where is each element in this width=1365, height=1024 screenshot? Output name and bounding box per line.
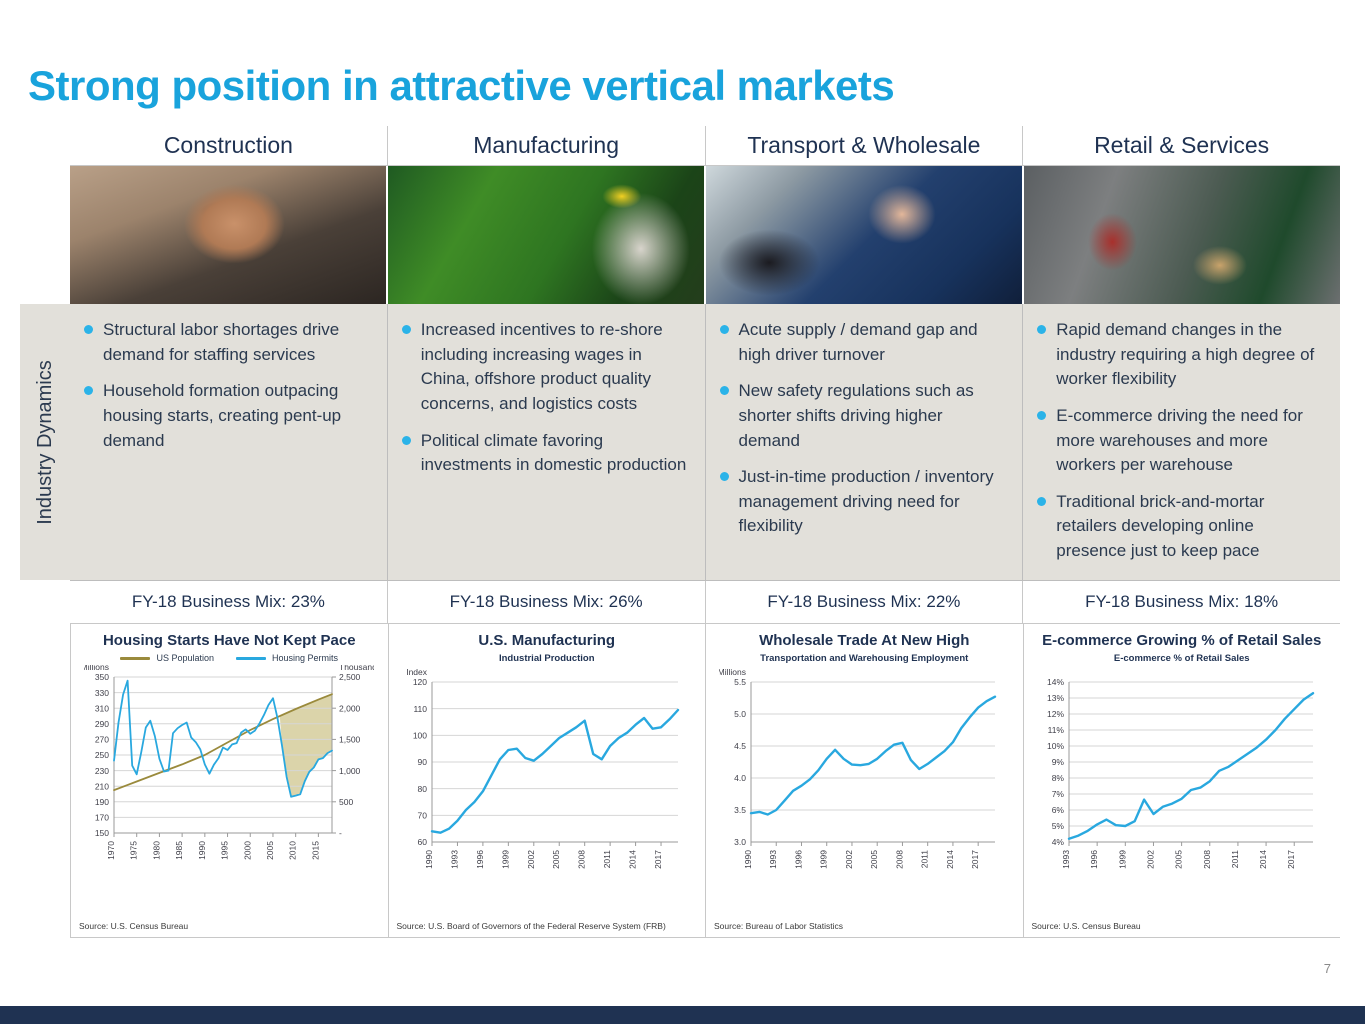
svg-text:2002: 2002 [1145, 850, 1155, 869]
bullet-dot-icon [84, 325, 93, 334]
svg-text:1999: 1999 [819, 850, 829, 869]
svg-text:1999: 1999 [500, 850, 510, 869]
business-mix-construction: FY-18 Business Mix: 23% [70, 581, 388, 623]
bullet-dot-icon [402, 436, 411, 445]
legend-swatch-icon [236, 657, 266, 660]
svg-text:1,000: 1,000 [339, 766, 361, 776]
legend-label: Housing Permits [272, 653, 338, 663]
dynamics-cell-transport: Acute supply / demand gap and high drive… [706, 304, 1024, 580]
bullet-dot-icon [1037, 325, 1046, 334]
svg-text:1995: 1995 [220, 841, 230, 860]
svg-text:2000: 2000 [243, 841, 253, 860]
svg-text:1990: 1990 [424, 850, 434, 869]
bullet-text: Just-in-time production / inventory mana… [739, 465, 1009, 539]
list-item: E-commerce driving the need for more war… [1037, 404, 1326, 478]
svg-text:1993: 1993 [768, 850, 778, 869]
svg-text:4.5: 4.5 [734, 741, 746, 751]
svg-text:120: 120 [413, 677, 427, 687]
svg-text:2011: 2011 [602, 850, 612, 869]
column-header-manufacturing: Manufacturing [388, 126, 706, 165]
svg-text:2017: 2017 [653, 850, 663, 869]
svg-text:1985: 1985 [174, 841, 184, 860]
svg-text:1980: 1980 [152, 841, 162, 860]
chart-subtitle-2: Industrial Production [395, 653, 700, 664]
svg-text:3.5: 3.5 [734, 805, 746, 815]
bullet-dot-icon [1037, 411, 1046, 420]
chart-svg-4: 14%13%12%11%10%9%8%7%6%5%4%1993199619992… [1037, 666, 1327, 884]
svg-text:330: 330 [95, 688, 109, 698]
svg-text:Thousands: Thousands [339, 665, 374, 672]
dynamics-cell-manufacturing: Increased incentives to re-shore includi… [388, 304, 706, 580]
column-headers-row: Construction Manufacturing Transport & W… [70, 126, 1340, 166]
svg-text:2008: 2008 [576, 850, 586, 869]
svg-text:2005: 2005 [551, 850, 561, 869]
svg-text:1990: 1990 [743, 850, 753, 869]
bullet-dot-icon [84, 386, 93, 395]
list-item: Structural labor shortages drive demand … [84, 318, 373, 367]
photo-row [70, 166, 1340, 304]
svg-text:2005: 2005 [265, 841, 275, 860]
chart-cell-transport: Wholesale Trade At New High Transportati… [706, 624, 1024, 938]
chart-title-1: Housing Starts Have Not Kept Pace [77, 632, 382, 649]
chart-source-4: Source: U.S. Census Bureau [1032, 921, 1141, 931]
industry-dynamics-band: Industry Dynamics Structural labor short… [70, 304, 1340, 580]
svg-text:210: 210 [95, 781, 109, 791]
svg-text:1990: 1990 [197, 841, 207, 860]
bullet-text: Acute supply / demand gap and high drive… [739, 318, 1009, 367]
list-item: Political climate favoring investments i… [402, 429, 691, 478]
svg-text:2002: 2002 [844, 850, 854, 869]
svg-text:3.0: 3.0 [734, 837, 746, 847]
chart-cell-construction: Housing Starts Have Not Kept Pace US Pop… [70, 624, 389, 938]
legend-label: US Population [156, 653, 214, 663]
business-mix-manufacturing: FY-18 Business Mix: 26% [388, 581, 706, 623]
legend-item-us-population: US Population [120, 653, 214, 663]
svg-text:5%: 5% [1051, 821, 1064, 831]
svg-text:Millions: Millions [84, 665, 109, 672]
page-number: 7 [1324, 961, 1331, 976]
footer-bar [0, 1006, 1365, 1024]
svg-text:2005: 2005 [869, 850, 879, 869]
svg-text:2,500: 2,500 [339, 672, 361, 682]
svg-text:2011: 2011 [1230, 850, 1240, 869]
svg-text:190: 190 [95, 797, 109, 807]
column-header-construction: Construction [70, 126, 388, 165]
list-item: New safety regulations such as shorter s… [720, 379, 1009, 453]
svg-text:5.0: 5.0 [734, 709, 746, 719]
svg-text:250: 250 [95, 750, 109, 760]
svg-text:-: - [339, 828, 342, 838]
warehouse-workers-photo [1024, 166, 1340, 304]
chart-source-1: Source: U.S. Census Bureau [79, 921, 188, 931]
chart-subtitle-3: Transportation and Warehousing Employmen… [712, 653, 1017, 664]
list-item: Just-in-time production / inventory mana… [720, 465, 1009, 539]
svg-text:270: 270 [95, 735, 109, 745]
svg-text:2002: 2002 [526, 850, 536, 869]
svg-text:1993: 1993 [449, 850, 459, 869]
svg-text:9%: 9% [1051, 757, 1064, 767]
chart-cell-retail: E-commerce Growing % of Retail Sales E-c… [1024, 624, 1341, 938]
bullet-dot-icon [402, 325, 411, 334]
svg-text:13%: 13% [1047, 693, 1064, 703]
svg-text:100: 100 [413, 731, 427, 741]
svg-text:90: 90 [417, 757, 427, 767]
svg-text:2014: 2014 [1258, 850, 1268, 869]
svg-text:230: 230 [95, 766, 109, 776]
svg-text:80: 80 [417, 784, 427, 794]
list-item: Acute supply / demand gap and high drive… [720, 318, 1009, 367]
svg-text:290: 290 [95, 719, 109, 729]
svg-text:2014: 2014 [627, 850, 637, 869]
svg-text:8%: 8% [1051, 773, 1064, 783]
chart-title-3: Wholesale Trade At New High [712, 632, 1017, 649]
svg-text:1996: 1996 [475, 850, 485, 869]
chart-svg-1: 350330310290270250230210190170150Million… [84, 665, 374, 875]
bullet-text: Rapid demand changes in the industry req… [1056, 318, 1326, 392]
svg-text:4%: 4% [1051, 837, 1064, 847]
chart-svg-2: 12011010090807060Index199019931996199920… [402, 666, 692, 884]
svg-text:Millions: Millions [719, 667, 746, 677]
legend-swatch-icon [120, 657, 150, 660]
bullet-text: Traditional brick-and-mortar retailers d… [1056, 490, 1326, 564]
svg-text:2010: 2010 [288, 841, 298, 860]
list-item: Increased incentives to re-shore includi… [402, 318, 691, 417]
svg-text:2008: 2008 [1202, 850, 1212, 869]
business-mix-row: FY-18 Business Mix: 23% FY-18 Business M… [70, 580, 1340, 624]
svg-text:Index: Index [406, 667, 428, 677]
dynamics-cell-retail: Rapid demand changes in the industry req… [1023, 304, 1340, 580]
svg-text:310: 310 [95, 703, 109, 713]
column-header-retail: Retail & Services [1023, 126, 1340, 165]
svg-text:14%: 14% [1047, 677, 1064, 687]
svg-text:1975: 1975 [129, 841, 139, 860]
chart-legend-1: US Population Housing Permits [77, 653, 382, 663]
svg-text:150: 150 [95, 828, 109, 838]
svg-text:1993: 1993 [1061, 850, 1071, 869]
list-item: Traditional brick-and-mortar retailers d… [1037, 490, 1326, 564]
svg-text:500: 500 [339, 797, 353, 807]
svg-text:2017: 2017 [970, 850, 980, 869]
chart-subtitle-4: E-commerce % of Retail Sales [1030, 653, 1335, 664]
svg-text:10%: 10% [1047, 741, 1064, 751]
svg-text:2017: 2017 [1286, 850, 1296, 869]
svg-text:1970: 1970 [106, 841, 116, 860]
column-header-transport: Transport & Wholesale [706, 126, 1024, 165]
svg-text:12%: 12% [1047, 709, 1064, 719]
svg-text:1996: 1996 [1089, 850, 1099, 869]
list-item: Rapid demand changes in the industry req… [1037, 318, 1326, 392]
svg-text:1996: 1996 [794, 850, 804, 869]
svg-text:7%: 7% [1051, 789, 1064, 799]
page-title: Strong position in attractive vertical m… [28, 62, 894, 110]
svg-text:2008: 2008 [895, 850, 905, 869]
bullet-text: Structural labor shortages drive demand … [103, 318, 373, 367]
svg-text:2011: 2011 [920, 850, 930, 869]
chart-source-3: Source: Bureau of Labor Statistics [714, 921, 843, 931]
svg-text:110: 110 [413, 704, 427, 714]
legend-item-housing-permits: Housing Permits [236, 653, 338, 663]
chart-title-2: U.S. Manufacturing [395, 632, 700, 649]
bullet-dot-icon [720, 472, 729, 481]
bullet-text: Political climate favoring investments i… [421, 429, 691, 478]
svg-text:1,500: 1,500 [339, 735, 361, 745]
svg-text:70: 70 [417, 811, 427, 821]
svg-text:6%: 6% [1051, 805, 1064, 815]
industry-dynamics-label: Industry Dynamics [20, 304, 70, 580]
svg-text:5.5: 5.5 [734, 677, 746, 687]
bullet-text: Increased incentives to re-shore includi… [421, 318, 691, 417]
bullet-dot-icon [1037, 497, 1046, 506]
vertical-markets-grid: Construction Manufacturing Transport & W… [70, 126, 1340, 938]
bullet-dot-icon [720, 386, 729, 395]
dynamics-cell-construction: Structural labor shortages drive demand … [70, 304, 388, 580]
chart-cell-manufacturing: U.S. Manufacturing Industrial Production… [389, 624, 707, 938]
chart-title-4: E-commerce Growing % of Retail Sales [1030, 632, 1335, 649]
chart-source-2: Source: U.S. Board of Governors of the F… [397, 921, 666, 931]
business-mix-retail: FY-18 Business Mix: 18% [1023, 581, 1340, 623]
svg-text:2015: 2015 [311, 841, 321, 860]
svg-text:350: 350 [95, 672, 109, 682]
svg-text:2014: 2014 [945, 850, 955, 869]
bullet-text: E-commerce driving the need for more war… [1056, 404, 1326, 478]
svg-text:1999: 1999 [1117, 850, 1127, 869]
slide-root: Strong position in attractive vertical m… [0, 0, 1365, 1024]
svg-text:60: 60 [417, 837, 427, 847]
chart-row: Housing Starts Have Not Kept Pace US Pop… [70, 624, 1340, 938]
chart-svg-3: 5.55.04.54.03.53.0Millions19901993199619… [719, 666, 1009, 884]
svg-text:170: 170 [95, 813, 109, 823]
svg-text:4.0: 4.0 [734, 773, 746, 783]
svg-text:2,000: 2,000 [339, 703, 361, 713]
factory-machinery-photo [388, 166, 706, 304]
svg-text:11%: 11% [1047, 725, 1064, 735]
bullet-text: New safety regulations such as shorter s… [739, 379, 1009, 453]
list-item: Household formation outpacing housing st… [84, 379, 373, 453]
bullet-text: Household formation outpacing housing st… [103, 379, 373, 453]
industry-dynamics-label-text: Industry Dynamics [34, 360, 57, 525]
construction-worker-photo [70, 166, 388, 304]
truck-driver-photo [706, 166, 1024, 304]
svg-text:2005: 2005 [1173, 850, 1183, 869]
business-mix-transport: FY-18 Business Mix: 22% [706, 581, 1024, 623]
bullet-dot-icon [720, 325, 729, 334]
